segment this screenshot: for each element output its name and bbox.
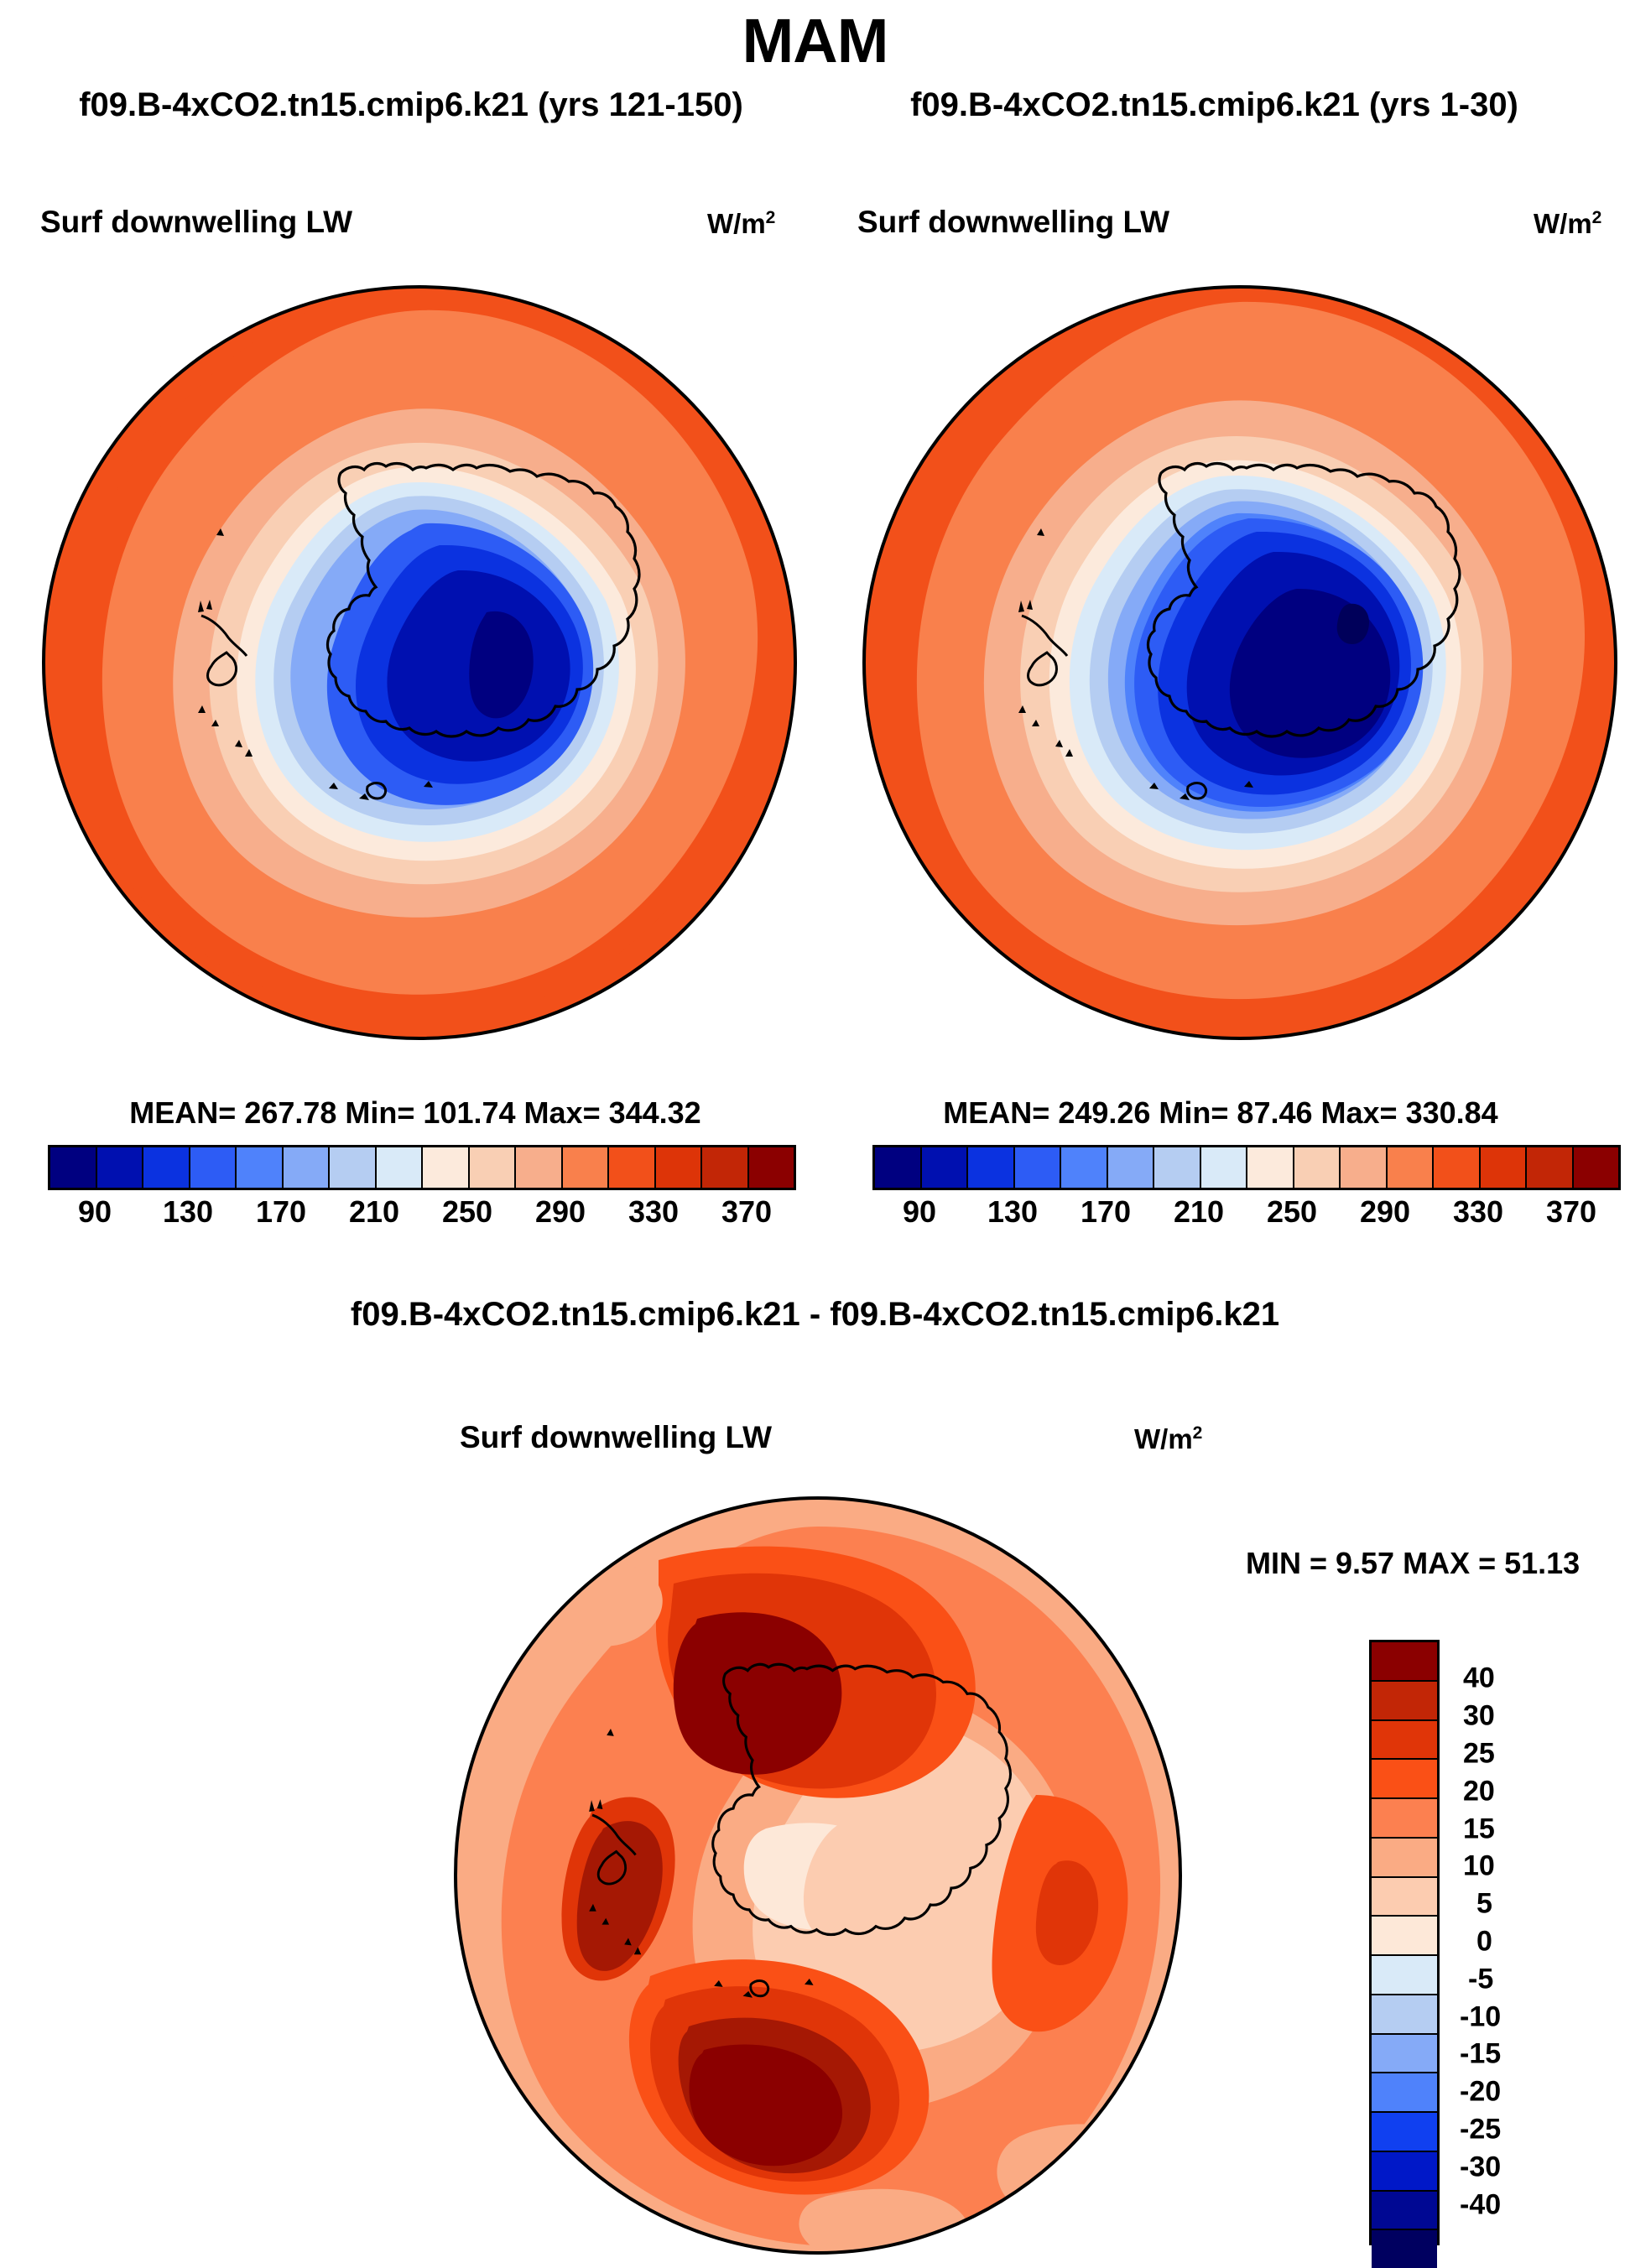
polar-map-difference: [449, 1493, 1187, 2258]
cb-tick: 90: [903, 1194, 936, 1230]
field-label-right: Surf downwelling LW: [857, 205, 1169, 240]
units-exponent-left: 2: [766, 208, 776, 227]
colorbar-right-ticks: 90 130 170 210 250 290 330 370: [825, 1194, 1630, 1236]
cb-tick: 330: [628, 1194, 679, 1230]
season-title: MAM: [0, 5, 1630, 76]
cb-tick: 130: [987, 1194, 1038, 1230]
cb-tick: 290: [1360, 1194, 1410, 1230]
units-exponent-right: 2: [1592, 208, 1602, 227]
colorbar-left[interactable]: [48, 1145, 796, 1190]
vcb-tick: 0: [1476, 1926, 1492, 1958]
vcb-tick: -5: [1468, 1964, 1493, 1996]
vcb-tick: -10: [1460, 2001, 1501, 2034]
cb-tick: 90: [78, 1194, 112, 1230]
cb-tick: 370: [721, 1194, 772, 1230]
case-title-right: f09.B-4xCO2.tn15.cmip6.k21 (yrs 1-30): [805, 86, 1623, 124]
stats-diff: MIN = 9.57 MAX = 51.13: [1246, 1546, 1580, 1581]
map-right: [854, 277, 1626, 1048]
field-label-left: Surf downwelling LW: [40, 205, 352, 240]
vcb-tick: 20: [1463, 1776, 1495, 1808]
cb-tick: 210: [1174, 1194, 1224, 1230]
vcb-tick: -20: [1460, 2076, 1501, 2109]
vcb-tick: 30: [1463, 1700, 1495, 1733]
field-label-diff: Surf downwelling LW: [460, 1420, 772, 1455]
units-exponent-diff: 2: [1193, 1423, 1203, 1443]
cb-tick: 370: [1546, 1194, 1596, 1230]
cb-tick: 250: [1267, 1194, 1317, 1230]
vcb-tick: -25: [1460, 2114, 1501, 2146]
colorbar-diff[interactable]: [1369, 1640, 1440, 2245]
vcb-tick: 5: [1476, 1888, 1492, 1921]
cb-tick: 330: [1453, 1194, 1503, 1230]
case-title-left: f09.B-4xCO2.tn15.cmip6.k21 (yrs 121-150): [8, 86, 814, 124]
units-left: W/m2: [707, 208, 775, 240]
diff-case-title: f09.B-4xCO2.tn15.cmip6.k21 - f09.B-4xCO2…: [0, 1296, 1630, 1334]
cb-tick: 290: [535, 1194, 586, 1230]
cb-tick: 170: [256, 1194, 306, 1230]
vcb-tick: -15: [1460, 2038, 1501, 2071]
vcb-tick: 15: [1463, 1813, 1495, 1846]
polar-map-case1: [34, 277, 805, 1048]
units-diff: W/m2: [1134, 1423, 1202, 1455]
vcb-tick: 40: [1463, 1662, 1495, 1695]
colorbar-left-ticks: 90 130 170 210 250 290 330 370: [0, 1194, 839, 1236]
stats-left: MEAN= 267.78 Min= 101.74 Max= 344.32: [0, 1095, 831, 1131]
units-text-diff: W/m: [1134, 1423, 1193, 1454]
vcb-tick: 10: [1463, 1850, 1495, 1883]
cb-tick: 130: [163, 1194, 213, 1230]
polar-map-case2: [854, 277, 1626, 1048]
units-text-left: W/m: [707, 208, 766, 239]
units-text-right: W/m: [1534, 208, 1592, 239]
units-right: W/m2: [1534, 208, 1601, 240]
map-diff: [449, 1493, 1187, 2258]
cb-tick: 210: [349, 1194, 399, 1230]
vcb-tick: -30: [1460, 2151, 1501, 2184]
vcb-tick: 25: [1463, 1738, 1495, 1771]
stats-right: MEAN= 249.26 Min= 87.46 Max= 330.84: [805, 1095, 1630, 1131]
colorbar-diff-ticks: 40 30 25 20 15 10 5 0 -5 -10 -15 -20 -25…: [1460, 1640, 1627, 2240]
colorbar-right[interactable]: [872, 1145, 1621, 1190]
cb-tick: 170: [1081, 1194, 1131, 1230]
cb-tick: 250: [442, 1194, 492, 1230]
map-left: [34, 277, 805, 1048]
vcb-tick: -40: [1460, 2189, 1501, 2222]
